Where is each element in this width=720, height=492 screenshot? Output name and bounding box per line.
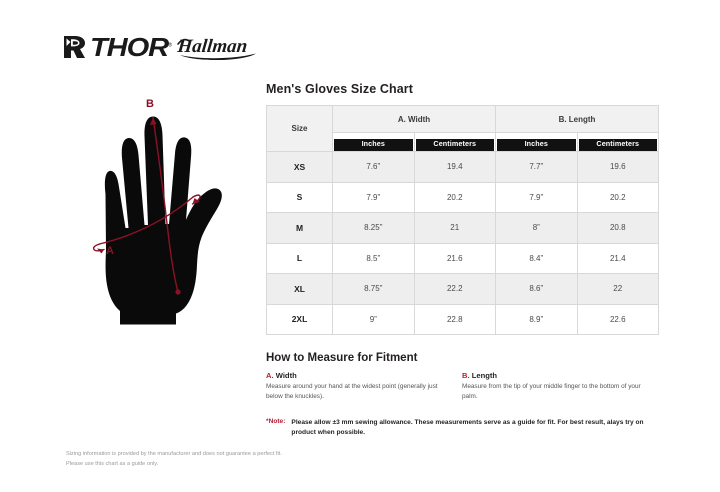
row-width-cm: 22.2 (414, 274, 496, 305)
table-row: 2XL 9” 22.8 8.9” 22.6 (267, 304, 659, 335)
thor-logo: THOR® (62, 33, 162, 61)
header-sub-cell-0: Inches (333, 133, 415, 152)
row-length-in: 7.9” (496, 182, 578, 213)
row-length-in: 8.9” (496, 304, 578, 335)
row-width-cm: 19.4 (414, 152, 496, 183)
header-sub-width-inches: Inches (333, 139, 414, 151)
howto-item-length: B. Length Measure from the tip of your m… (462, 371, 658, 402)
row-size: 2XL (267, 304, 333, 335)
howto-letter-b: B. (462, 371, 470, 380)
row-length-cm: 22.6 (577, 304, 659, 335)
row-length-cm: 21.4 (577, 243, 659, 274)
row-width-cm: 21 (414, 213, 496, 244)
table-row: XS 7.6” 19.4 7.7” 19.6 (267, 152, 659, 183)
row-length-cm: 20.8 (577, 213, 659, 244)
header-group-width: A. Width (333, 106, 496, 133)
header-sub-cell-3: Centimeters (577, 133, 659, 152)
header-sub-length-inches: Inches (496, 139, 577, 151)
hallman-script-logo-icon: Hallman (176, 33, 262, 61)
row-width-in: 8.25” (333, 213, 415, 244)
table-header-group-row: Size A. Width B. Length (267, 106, 659, 133)
row-length-cm: 20.2 (577, 182, 659, 213)
size-chart-page: THOR® Hallman (0, 0, 720, 492)
header-sub-cell-2: Inches (496, 133, 578, 152)
page-title: Men's Gloves Size Chart (266, 82, 413, 96)
row-size: L (267, 243, 333, 274)
table-row: M 8.25” 21 8” 20.8 (267, 213, 659, 244)
row-length-in: 8.6” (496, 274, 578, 305)
thor-wordmark: THOR® (90, 34, 171, 60)
note-block: *Note: Please allow ±3 mm sewing allowan… (266, 418, 658, 438)
howto-columns: A. Width Measure around your hand at the… (266, 371, 658, 402)
row-width-in: 7.6” (333, 152, 415, 183)
brand-logo-row: THOR® Hallman (62, 33, 262, 61)
size-chart-table: Size A. Width B. Length Inches Centimete… (266, 105, 659, 335)
table-row: L 8.5” 21.6 8.4” 21.4 (267, 243, 659, 274)
thor-helmet-mark-icon (62, 33, 88, 61)
row-length-in: 8” (496, 213, 578, 244)
note-label: *Note: (266, 418, 285, 425)
footer-line-2: Please use this chart as a guide only. (66, 460, 366, 470)
table-row: S 7.9” 20.2 7.9” 20.2 (267, 182, 659, 213)
row-width-in: 8.75” (333, 274, 415, 305)
howto-title: How to Measure for Fitment (266, 352, 417, 364)
header-size: Size (267, 106, 333, 152)
footer-disclaimer: Sizing information is provided by the ma… (66, 450, 366, 470)
note-text: Please allow ±3 mm sewing allowance. The… (291, 418, 658, 438)
row-length-in: 7.7” (496, 152, 578, 183)
howto-letter-a: A. (266, 371, 274, 380)
row-size: M (267, 213, 333, 244)
row-width-in: 9” (333, 304, 415, 335)
row-length-in: 8.4” (496, 243, 578, 274)
header-group-length: B. Length (496, 106, 659, 133)
header-sub-cell-1: Centimeters (414, 133, 496, 152)
header-sub-width-centimeters: Centimeters (415, 139, 496, 151)
header-sub-length-centimeters: Centimeters (578, 139, 659, 151)
howto-name-width: Width (276, 371, 297, 380)
row-length-cm: 19.6 (577, 152, 659, 183)
row-length-cm: 22 (577, 274, 659, 305)
howto-item-width: A. Width Measure around your hand at the… (266, 371, 462, 402)
row-width-in: 7.9” (333, 182, 415, 213)
registered-trademark-icon: ® (168, 42, 171, 48)
row-width-in: 8.5” (333, 243, 415, 274)
footer-line-1: Sizing information is provided by the ma… (66, 450, 366, 460)
howto-item-heading: A. Width (266, 371, 446, 380)
row-width-cm: 20.2 (414, 182, 496, 213)
row-size: XS (267, 152, 333, 183)
glove-hand-diagram: A B (64, 92, 264, 332)
row-width-cm: 22.8 (414, 304, 496, 335)
howto-text-length: Measure from the tip of your middle fing… (462, 382, 642, 402)
row-size: XL (267, 274, 333, 305)
row-width-cm: 21.6 (414, 243, 496, 274)
row-size: S (267, 182, 333, 213)
howto-item-heading: B. Length (462, 371, 642, 380)
howto-name-length: Length (472, 371, 497, 380)
howto-text-width: Measure around your hand at the widest p… (266, 382, 446, 402)
glove-label-b: B (146, 98, 154, 110)
table-row: XL 8.75” 22.2 8.6” 22 (267, 274, 659, 305)
glove-label-a: A (106, 245, 114, 257)
